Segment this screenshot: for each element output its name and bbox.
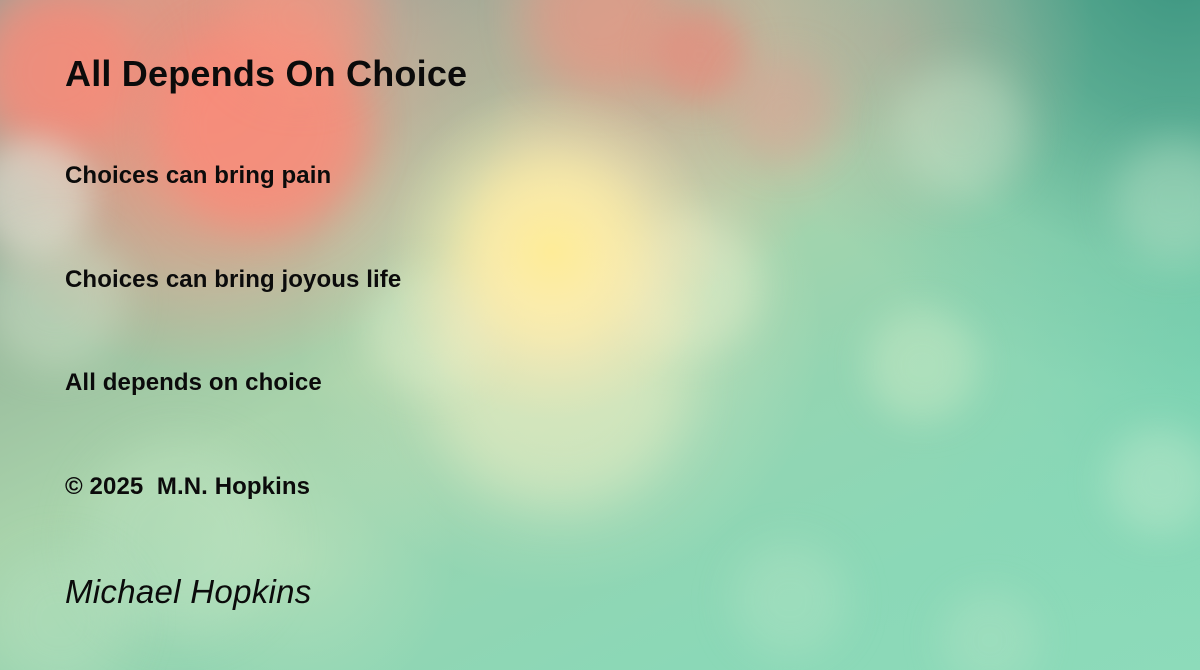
copyright-notice: © 2025 M.N. Hopkins xyxy=(65,473,310,501)
poem-verse-line: Choices can bring joyous life xyxy=(65,266,401,294)
poem-verse-line: Choices can bring pain xyxy=(65,162,331,190)
author-signature: Michael Hopkins xyxy=(65,573,312,611)
poem-verse-line: All depends on choice xyxy=(65,369,322,397)
poem-text-block: All Depends On Choice Choices can bring … xyxy=(65,0,1065,670)
poem-card: All Depends On Choice Choices can bring … xyxy=(0,0,1200,670)
page-title: All Depends On Choice xyxy=(65,53,467,95)
mint-disc-right-edge xyxy=(1113,138,1200,262)
mint-disc-bottom-right xyxy=(1106,426,1200,534)
